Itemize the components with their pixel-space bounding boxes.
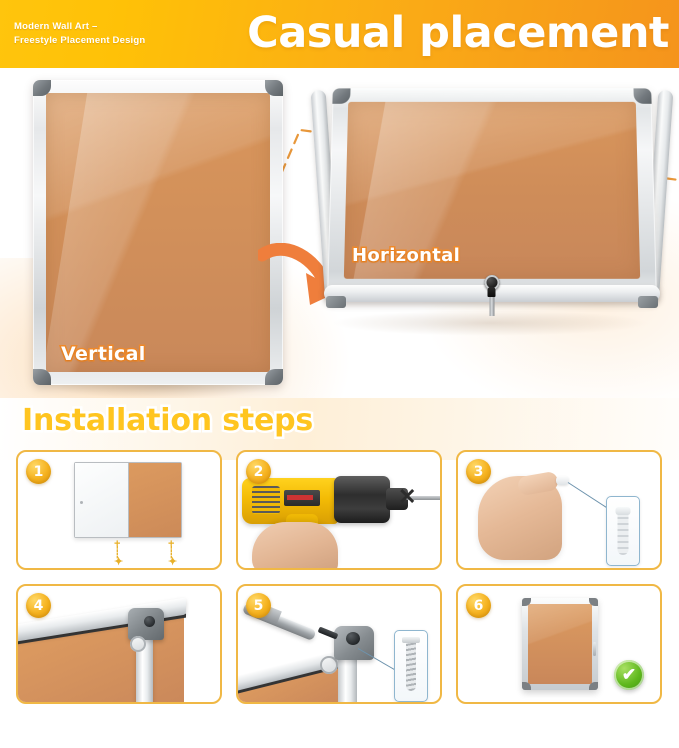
step-badge-5: 5 [246,593,271,618]
mounting-hole [144,616,155,627]
horizontal-board-foot-left [326,296,346,308]
vertical-orientation-label: Vertical [61,343,146,365]
installation-steps-grid: 1 +┊✦ +┊✦ 2 [16,450,668,704]
product-infographic: Modern Wall Art – Freestyle Placement De… [0,0,679,748]
screw-callout [394,630,428,702]
corner-bracket-top-right [265,80,283,96]
header-title: Casual placement [247,8,669,58]
board-whiteboard-half [75,463,129,537]
screw-icon [406,641,416,691]
horizontal-orientation-label: Horizontal [352,245,460,266]
corner-pivot-ring [130,636,146,652]
hole-mark-right: +┊✦ [168,540,177,567]
hole-mark-left: +┊✦ [114,540,123,567]
corner-bracket-bottom-left [33,369,51,385]
vertical-display-board[interactable]: Vertical [33,80,283,385]
step-panel-1[interactable]: 1 +┊✦ +┊✦ [16,450,222,570]
header-subtitle-line2: Freestyle Placement Design [14,34,145,48]
hero-section: Vertical [0,68,679,398]
wall-anchor-callout [606,496,640,566]
mounting-hole [346,632,360,645]
wall-anchor-icon [618,507,629,555]
vertical-board-cork-surface [46,93,270,372]
installation-title: Installation steps [22,403,313,438]
step-panel-6[interactable]: 6 ✔ [456,584,662,704]
h-corner-bracket-top-right [633,88,651,103]
step-panel-3[interactable]: 3 [456,450,662,570]
drill-vents [252,486,280,514]
wall-anchor-in-hand [556,476,569,485]
horizontal-board-assembly [316,86,668,318]
step-badge-1: 1 [26,459,51,484]
step-panel-2[interactable]: 2 ✕ [236,450,442,570]
door-handle [593,642,596,656]
step-panel-5[interactable]: 5 [236,584,442,704]
step-badge-6: 6 [466,593,491,618]
step-badge-2: 2 [246,459,271,484]
step-badge-4: 4 [26,593,51,618]
horizontal-board-foot-right [638,296,658,308]
drill-chuck [334,476,390,523]
door-key [490,294,495,316]
mounted-board-cork-surface [528,604,592,684]
header-subtitle: Modern Wall Art – Freestyle Placement De… [14,20,145,48]
vertical-board-glass-sheen [46,93,221,372]
board-cork-half [129,463,182,537]
board-outline-diagram [74,462,182,538]
mounted-board [522,598,598,690]
h-corner-bracket-top-left [332,88,350,103]
header-subtitle-line1: Modern Wall Art – [14,20,145,34]
horizontal-display-board[interactable]: Horizontal [316,86,668,318]
header-banner: Modern Wall Art – Freestyle Placement De… [0,0,679,68]
success-check-icon: ✔ [614,660,644,690]
corner-bracket-bottom-right [265,369,283,385]
installation-section: Installation steps 1 +┊✦ +┊✦ 2 [0,398,679,748]
step-panel-4[interactable]: 4 [16,584,222,704]
door-lock-icon[interactable] [485,275,500,290]
m-corner-bottom-right [589,682,598,690]
drill-label [284,490,320,506]
drill-target-mark: ✕ [398,486,416,508]
operator-hand [252,522,338,570]
step-badge-3: 3 [466,459,491,484]
